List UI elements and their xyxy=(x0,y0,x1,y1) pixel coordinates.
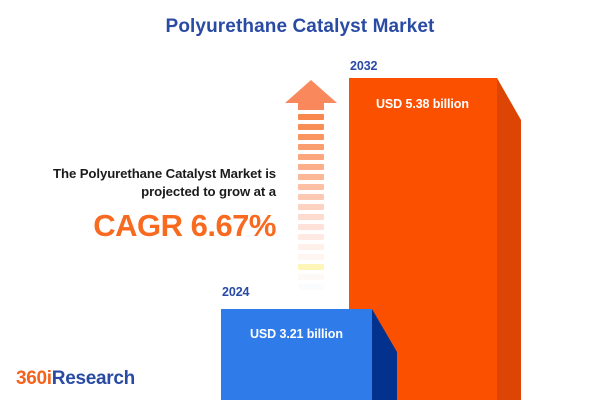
arrow-stripe xyxy=(298,204,324,210)
arrow-stripe xyxy=(298,134,324,140)
arrow-stripe xyxy=(298,284,324,290)
arrow-stripe xyxy=(298,214,324,220)
arrow-stripe xyxy=(298,244,324,250)
bar-2024-value-label: USD 3.21 billion xyxy=(250,327,343,341)
arrow-stripe xyxy=(298,174,324,180)
arrow-stripe xyxy=(298,114,324,120)
bar-2024-year-label: 2024 xyxy=(222,285,249,299)
arrow-stripe xyxy=(298,184,324,190)
arrow-head-shape xyxy=(285,80,337,103)
logo-text-research: Research xyxy=(52,368,135,389)
arrow-stripe xyxy=(298,154,324,160)
arrow-stripe xyxy=(298,194,324,200)
arrow-stripe xyxy=(298,254,324,260)
arrow-stripe xyxy=(298,274,324,280)
arrow-neck-shape xyxy=(298,102,324,110)
arrow-stripe xyxy=(298,124,324,130)
logo-text-360i: 360i xyxy=(16,368,52,389)
projection-statement: The Polyurethane Catalyst Market is proj… xyxy=(8,165,276,201)
up-arrow-icon xyxy=(285,80,337,295)
bar-2032-year-label: 2032 xyxy=(350,59,377,73)
arrow-stripe xyxy=(298,144,324,150)
arrow-stripe xyxy=(298,224,324,230)
arrow-stripe xyxy=(298,164,324,170)
bar-2024-front-face xyxy=(221,309,372,400)
bar-2024-side-face xyxy=(372,309,397,400)
infographic-canvas: Polyurethane Catalyst Market The Polyure… xyxy=(0,0,600,400)
cagr-value: CAGR 6.67% xyxy=(8,208,276,244)
page-title: Polyurethane Catalyst Market xyxy=(0,16,600,38)
bar-2024 xyxy=(221,309,397,400)
statement-block: The Polyurethane Catalyst Market is proj… xyxy=(8,165,276,244)
bar-2032-value-label: USD 5.38 billion xyxy=(376,97,469,111)
arrow-stripe xyxy=(298,234,324,240)
bar-2032-side-face xyxy=(497,78,521,400)
brand-logo: 360iResearch xyxy=(16,368,135,390)
arrow-stripe xyxy=(298,264,324,270)
